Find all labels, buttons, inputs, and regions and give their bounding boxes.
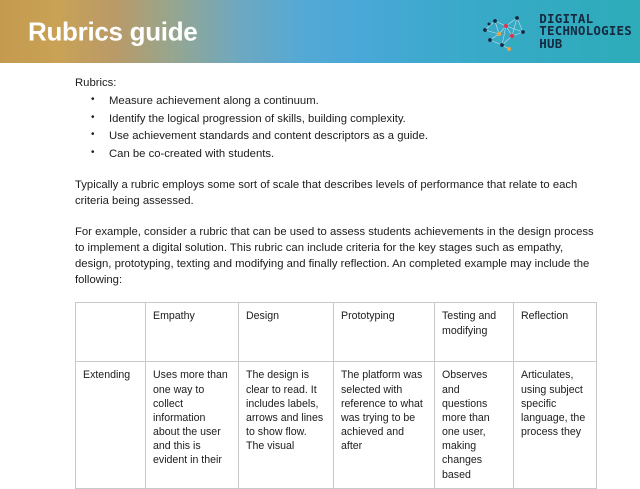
list-item-label: Use achievement standards and content de… [109, 130, 428, 142]
table-header-corner [76, 303, 146, 362]
list-item: • Identify the logical progression of sk… [109, 111, 596, 129]
paragraph-example: For example, consider a rubric that can … [75, 224, 596, 288]
bullet-icon: • [91, 146, 95, 161]
list-item-label: Identify the logical progression of skil… [109, 113, 406, 125]
rubrics-bullet-list: • Measure achievement along a continuum.… [75, 93, 596, 163]
list-item-label: Can be co-created with students. [109, 148, 274, 160]
logo-wordmark: DIGITAL TECHNOLOGIES HUB [539, 13, 632, 50]
brand-logo: DIGITAL TECHNOLOGIES HUB [479, 12, 632, 52]
list-item-label: Measure achievement along a continuum. [109, 95, 319, 107]
table-cell-prototyping: The platform was selected with reference… [334, 362, 435, 489]
table-cell-reflection: Articulates, using subject specific lang… [514, 362, 597, 489]
table-row: Extending Uses more than one way to coll… [76, 362, 597, 489]
table-header-prototyping: Prototyping [334, 303, 435, 362]
bullet-icon: • [91, 93, 95, 108]
table-header-row: Empathy Design Prototyping Testing and m… [76, 303, 597, 362]
rubrics-lead-text: Rubrics: [75, 75, 596, 91]
rubric-table: Empathy Design Prototyping Testing and m… [75, 302, 597, 489]
table-cell-empathy: Uses more than one way to collect inform… [146, 362, 239, 489]
bullet-icon: • [91, 111, 95, 126]
table-header-design: Design [239, 303, 334, 362]
table-header-reflection: Reflection [514, 303, 597, 362]
paragraph-scale: Typically a rubric employs some sort of … [75, 177, 596, 209]
table-header-empathy: Empathy [146, 303, 239, 362]
network-nodes-logo-icon [479, 12, 533, 52]
page-title: Rubrics guide [28, 16, 197, 47]
bullet-icon: • [91, 128, 95, 143]
list-item: • Measure achievement along a continuum. [109, 93, 596, 111]
logo-line-3: HUB [539, 38, 632, 50]
table-header-testing: Testing and modifying [435, 303, 514, 362]
table-cell-design: The design is clear to read. It includes… [239, 362, 334, 489]
table-cell-level: Extending [76, 362, 146, 489]
list-item: • Use achievement standards and content … [109, 128, 596, 146]
table-cell-testing: Observes and questions more than one use… [435, 362, 514, 489]
list-item: • Can be co-created with students. [109, 146, 596, 164]
page-banner: Rubrics guide DIGITAL TECHNOLOGIES HUB [0, 0, 640, 63]
